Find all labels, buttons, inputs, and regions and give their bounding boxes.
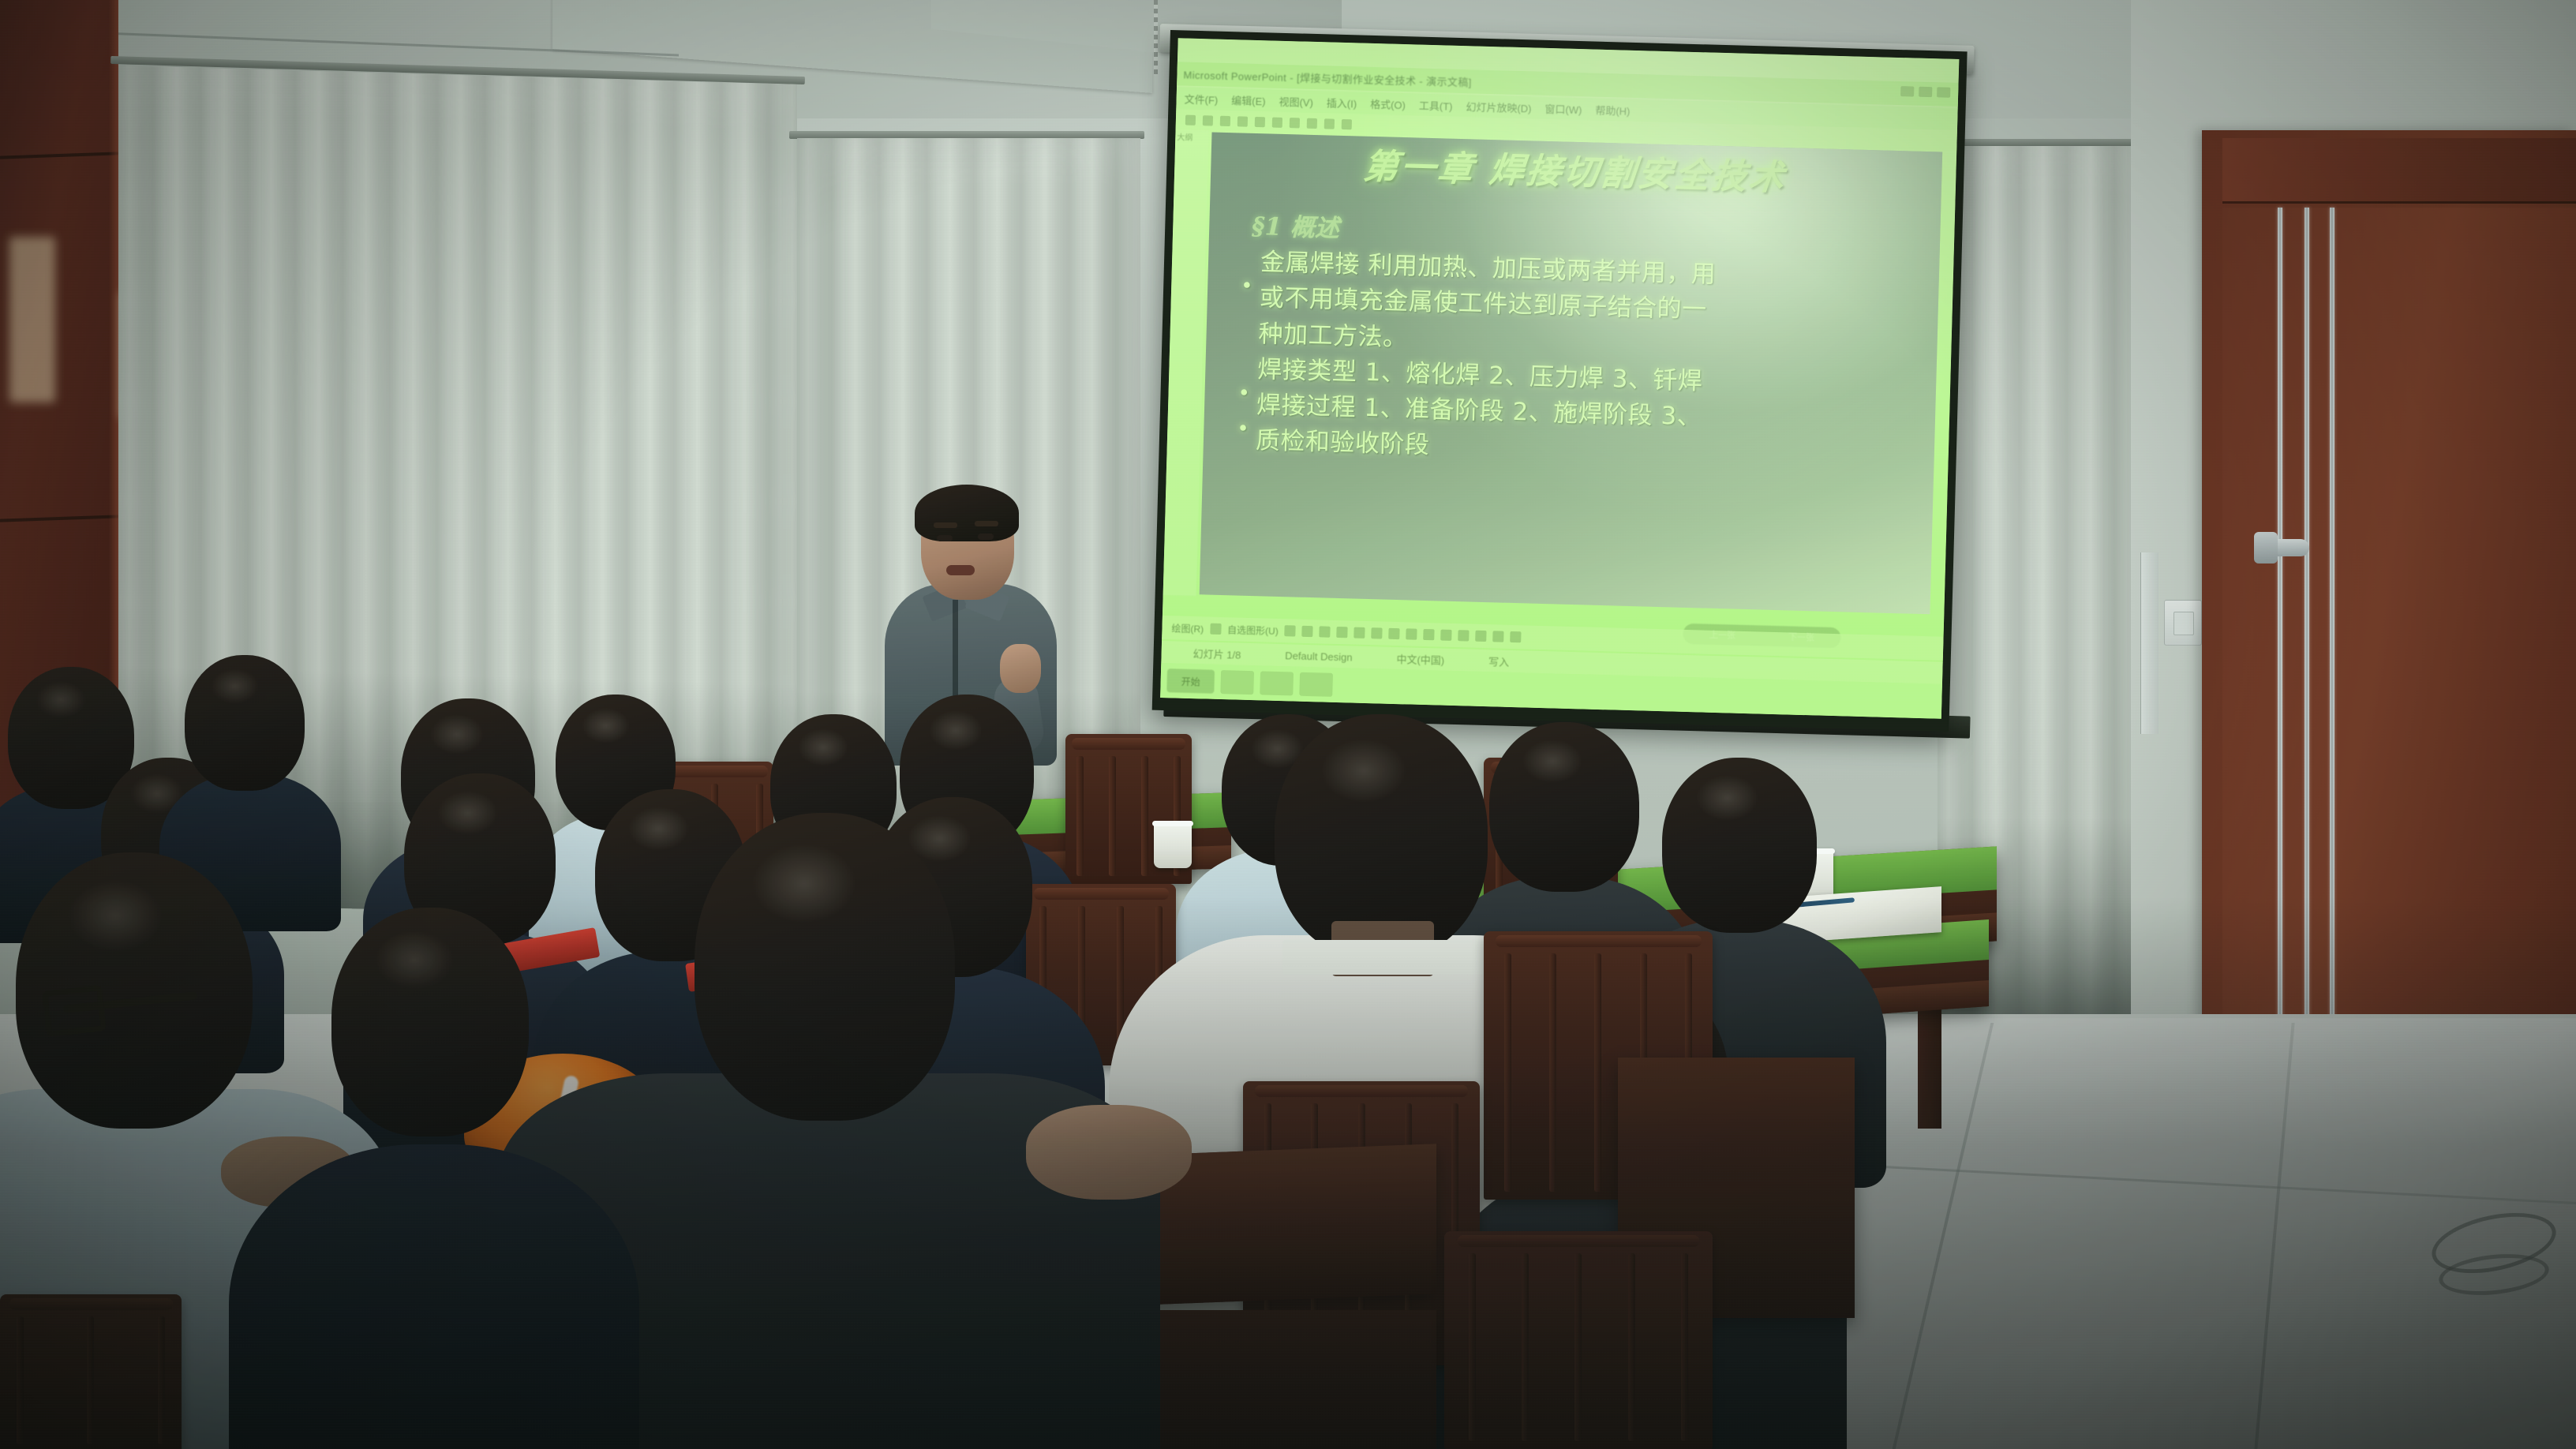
slide-body: 金属焊接 利用加热、加压或两者并用，用 或不用填充金属使工件达到原子结合的一 种… <box>1231 246 1912 475</box>
shirt-collar <box>1282 940 1488 975</box>
classroom-photo-scene: Microsoft PowerPoint - [焊接与切割作业安全技术 - 演示… <box>0 0 2576 1449</box>
start-button[interactable]: 开始 <box>1166 668 1215 694</box>
line-color-icon[interactable] <box>1424 629 1435 640</box>
powerpoint-title-text: Microsoft PowerPoint - [焊接与切割作业安全技术 - 演示… <box>1183 66 1472 89</box>
textbox-icon[interactable] <box>1354 627 1365 638</box>
door-transom-panel <box>2222 138 2576 204</box>
menu-item-format[interactable]: 格式(O) <box>1370 95 1406 111</box>
menu-item-slideshow[interactable]: 幻灯片放映(D) <box>1466 99 1532 115</box>
restore-icon[interactable] <box>1919 87 1932 97</box>
bold-icon[interactable] <box>1203 115 1213 125</box>
oval-icon[interactable] <box>1337 627 1348 638</box>
clipart-icon[interactable] <box>1389 628 1400 639</box>
menu-item-window[interactable]: 窗口(W) <box>1544 100 1582 116</box>
increase-font-icon[interactable] <box>1324 118 1335 129</box>
font-color-icon[interactable] <box>1441 630 1452 641</box>
door-leaf[interactable] <box>2222 208 2576 1093</box>
attendee-hand <box>1026 1105 1192 1200</box>
rectangle-icon[interactable] <box>1320 626 1331 637</box>
menu-item-help[interactable]: 帮助(H) <box>1595 102 1631 118</box>
font-size-icon[interactable] <box>1185 114 1196 125</box>
powerpoint-window: Microsoft PowerPoint - [焊接与切割作业安全技术 - 演示… <box>1160 38 1959 718</box>
door-stripe-icon <box>2305 208 2309 1093</box>
cable-trunking <box>2140 552 2159 734</box>
chair-top-rail <box>1255 1085 1468 1097</box>
presenter-eyebrow <box>934 522 957 528</box>
autoshapes-menu-label[interactable]: 自选图形(U) <box>1227 623 1279 638</box>
projection-screen: Microsoft PowerPoint - [焊接与切割作业安全技术 - 演示… <box>1152 30 1968 732</box>
attendee-head <box>331 908 529 1136</box>
align-center-icon[interactable] <box>1290 118 1300 128</box>
presenter-hair <box>915 485 1019 541</box>
window-light-glow <box>9 237 55 402</box>
taskbar-item[interactable] <box>1220 670 1254 695</box>
arrow-icon[interactable] <box>1302 626 1313 637</box>
taskbar-item[interactable] <box>1260 671 1294 695</box>
projected-image: Microsoft PowerPoint - [焊接与切割作业安全技术 - 演示… <box>1160 38 1959 718</box>
door-handle[interactable] <box>2267 539 2309 556</box>
drawing-menu-label[interactable]: 绘图(R) <box>1171 621 1204 635</box>
slide-title: 第一章 焊接切割安全技术 <box>1233 145 1916 200</box>
menu-item-tools[interactable]: 工具(T) <box>1419 97 1453 113</box>
panel-seam <box>0 515 118 522</box>
eyeglasses-icon <box>42 985 107 1037</box>
chair-top-rail <box>9 1298 173 1310</box>
chair-top-rail <box>1458 1235 1699 1247</box>
screen-mount-chain <box>1154 0 1158 75</box>
attendee-foreground-navy <box>284 908 584 1449</box>
presenter-eye <box>937 535 953 541</box>
attendee-head <box>695 813 955 1121</box>
window-controls[interactable] <box>1900 86 1950 98</box>
chair-top-rail <box>1496 935 1702 947</box>
menu-item-file[interactable]: 文件(F) <box>1184 91 1218 107</box>
shadow-style-icon[interactable] <box>1493 631 1504 642</box>
bullet-list-icon[interactable] <box>1307 118 1317 128</box>
presenter-eye <box>978 534 994 540</box>
chair[interactable] <box>0 1294 182 1449</box>
light-switch[interactable] <box>2164 600 2202 646</box>
close-icon[interactable] <box>1937 87 1950 97</box>
taskbar-item[interactable] <box>1299 672 1333 697</box>
underline-icon[interactable] <box>1237 116 1248 126</box>
chair[interactable] <box>1444 1231 1713 1449</box>
door-frame <box>2202 130 2576 1093</box>
fill-color-icon[interactable] <box>1406 628 1417 639</box>
door-stripe-icon <box>2330 208 2334 1093</box>
slide-content: 第一章 焊接切割安全技术 §1 概述 金属焊接 利用加热、加压或两者并用，用 或… <box>1200 132 1943 614</box>
dash-style-icon[interactable] <box>1476 631 1487 642</box>
attendee-body <box>229 1144 639 1449</box>
status-slide-number: 幻灯片 1/8 <box>1193 646 1241 662</box>
status-design-name: Default Design <box>1285 650 1353 663</box>
presenter-eyebrow <box>975 521 998 526</box>
line-icon[interactable] <box>1285 625 1296 636</box>
attendee-head <box>1662 758 1817 933</box>
line-style-icon[interactable] <box>1458 630 1470 641</box>
chair-slats <box>1469 1253 1689 1441</box>
decrease-font-icon[interactable] <box>1342 118 1352 129</box>
italic-icon[interactable] <box>1220 115 1230 125</box>
attendee-head <box>185 655 305 791</box>
door-stripe-icon <box>2278 208 2282 1093</box>
wordart-icon[interactable] <box>1372 627 1383 638</box>
3d-style-icon[interactable] <box>1511 631 1522 642</box>
shadow-icon[interactable] <box>1255 116 1265 126</box>
presenter-hand-gesture <box>1000 644 1041 693</box>
outline-pane-label: 大纲 <box>1177 133 1193 143</box>
select-arrow-icon[interactable] <box>1210 623 1221 635</box>
menu-item-view[interactable]: 视图(V) <box>1279 93 1313 109</box>
status-language: 中文(中国) <box>1396 651 1444 668</box>
chair-slats <box>17 1316 166 1444</box>
status-mode: 写入 <box>1488 653 1510 669</box>
align-left-icon[interactable] <box>1272 117 1282 127</box>
minimize-icon[interactable] <box>1900 86 1914 96</box>
presenter-mouth <box>946 565 975 575</box>
attendee-foreground-center <box>584 813 1073 1449</box>
menu-item-insert[interactable]: 插入(I) <box>1327 95 1357 110</box>
panel-seam <box>0 152 118 159</box>
menu-item-edit[interactable]: 编辑(E) <box>1231 92 1266 108</box>
